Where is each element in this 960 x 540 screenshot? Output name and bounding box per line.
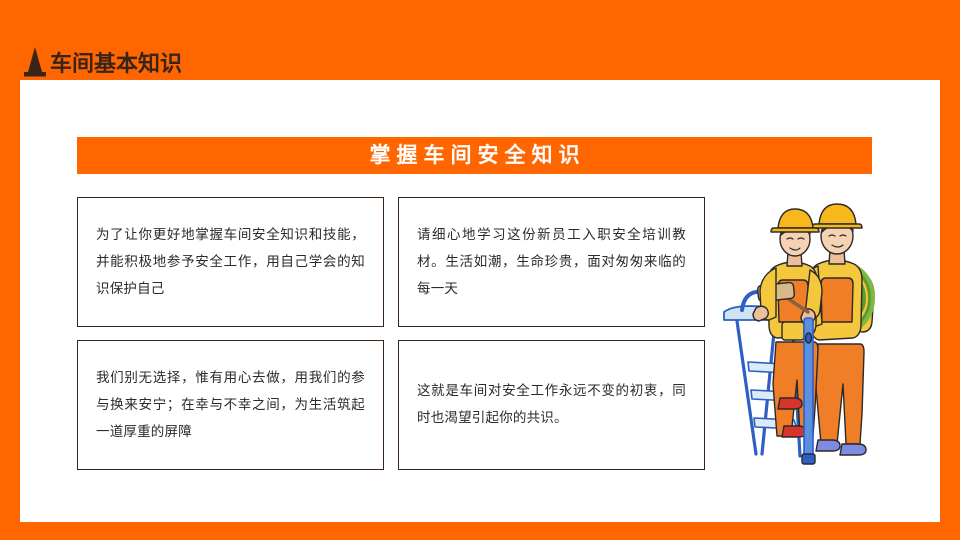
card-text: 我们别无选择，惟有用心去做，用我们的参与换来安宁；在幸与不幸之间，为生活筑起一道… xyxy=(96,365,365,446)
text-card: 请细心地学习这份新员工入职安全培训教材。生活如潮，生命珍贵，面对匆匆来临的每一天 xyxy=(398,197,705,327)
two-construction-workers-illustration xyxy=(718,192,903,472)
text-card: 为了让你更好地掌握车间安全知识和技能，并能积极地参予安全工作，用自己学会的知识保… xyxy=(77,197,384,327)
card-text: 请细心地学习这份新员工入职安全培训教材。生活如潮，生命珍贵，面对匆匆来临的每一天 xyxy=(417,222,686,303)
text-card: 我们别无选择，惟有用心去做，用我们的参与换来安宁；在幸与不幸之间，为生活筑起一道… xyxy=(77,340,384,470)
section-banner: 掌握车间安全知识 xyxy=(77,137,872,174)
traffic-cone-icon xyxy=(22,46,48,78)
card-text: 这就是车间对安全工作永远不变的初衷，同时也渴望引起你的共识。 xyxy=(417,378,686,432)
text-card: 这就是车间对安全工作永远不变的初衷，同时也渴望引起你的共识。 xyxy=(398,340,705,470)
card-text: 为了让你更好地掌握车间安全知识和技能，并能积极地参予安全工作，用自己学会的知识保… xyxy=(96,222,365,303)
banner-title: 掌握车间安全知识 xyxy=(364,145,586,166)
slide: 车间基本知识 掌握车间安全知识 为了让你更好地掌握车间安全知识和技能，并能积极地… xyxy=(0,0,960,540)
text-card-grid: 为了让你更好地掌握车间安全知识和技能，并能积极地参予安全工作，用自己学会的知识保… xyxy=(77,197,705,470)
page-title: 车间基本知识 xyxy=(50,54,182,78)
slide-header: 车间基本知识 xyxy=(22,44,182,78)
